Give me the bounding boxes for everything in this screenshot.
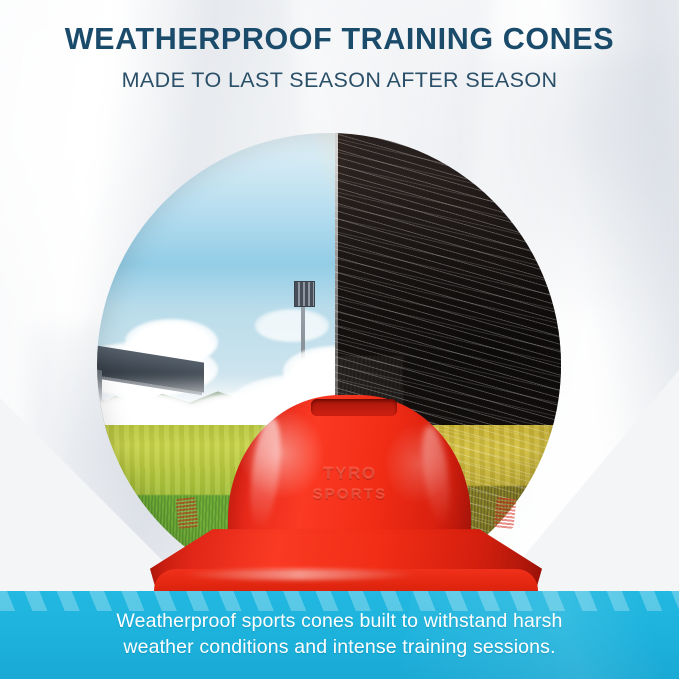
sun-glow (310, 133, 335, 291)
cone-ridges-right (493, 497, 516, 529)
banner-caption-line-2: weather conditions and intense training … (0, 635, 679, 661)
bottom-caption-banner: Weatherproof sports cones built to withs… (0, 591, 679, 679)
red-training-cone: TYRO SPORTS (150, 395, 542, 610)
cone-gloss-highlight (181, 569, 416, 580)
sun-flare-through-rain (335, 133, 357, 328)
banner-caption: Weatherproof sports cones built to withs… (0, 591, 679, 661)
cloud (255, 309, 329, 341)
page-subtitle: MADE TO LAST SEASON AFTER SEASON (0, 68, 679, 93)
banner-caption-line-1: Weatherproof sports cones built to withs… (0, 609, 679, 635)
cone-carry-handle (311, 399, 397, 416)
cone-ridges-left (176, 497, 199, 529)
product-marketing-image: WEATHERPROOF TRAINING CONES MADE TO LAST… (0, 0, 679, 679)
page-title: WEATHERPROOF TRAINING CONES (0, 22, 679, 57)
header-block: WEATHERPROOF TRAINING CONES MADE TO LAST… (0, 22, 679, 93)
